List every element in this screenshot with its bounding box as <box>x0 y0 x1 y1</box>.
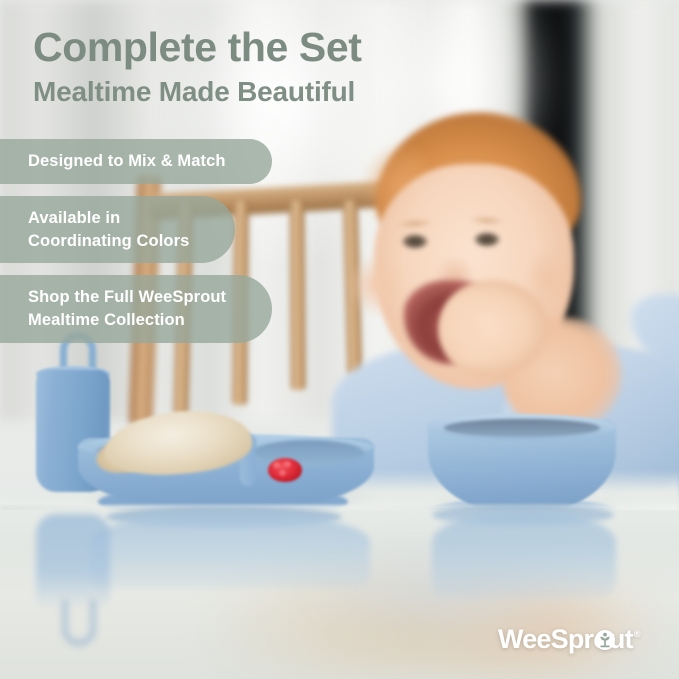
feature-badge-mix-match[interactable]: Designed to Mix & Match <box>0 139 272 184</box>
toddler-subject <box>352 112 679 442</box>
feature-badge-full-collection[interactable]: Shop the Full WeeSprout Mealtime Collect… <box>0 275 272 343</box>
child-eye-right <box>474 232 500 247</box>
page-title: Complete the Set <box>33 26 362 69</box>
reflection-cup-handle <box>62 600 96 646</box>
plate-side-compartment <box>252 440 364 466</box>
berry-highlight <box>279 470 286 476</box>
berry-highlight <box>273 462 280 468</box>
feature-badge-label: Available in Coordinating Colors <box>28 207 189 253</box>
reflection-plate <box>90 512 370 588</box>
registered-trademark-symbol: ® <box>634 629 641 639</box>
reflection-cup <box>36 514 110 610</box>
feature-badge-list: Designed to Mix & Match Available in Coo… <box>0 139 300 355</box>
feature-badge-label: Designed to Mix & Match <box>28 150 226 173</box>
page-subtitle: Mealtime Made Beautiful <box>33 76 355 108</box>
child-ear-left <box>348 254 400 316</box>
bowl-interior <box>444 419 600 437</box>
reflection-bowl <box>432 512 616 598</box>
food-raspberry <box>268 458 302 482</box>
child-eye-left <box>402 234 428 249</box>
feature-badge-label: Shop the Full WeeSprout Mealtime Collect… <box>28 286 226 332</box>
sprout-icon <box>594 629 616 651</box>
brand-logo: WeeSprout ® <box>498 626 640 653</box>
feature-badge-coordinating-colors[interactable]: Available in Coordinating Colors <box>0 196 235 264</box>
berry-highlight <box>284 461 291 467</box>
product-marketing-image: Complete the Set Mealtime Made Beautiful… <box>0 0 679 679</box>
